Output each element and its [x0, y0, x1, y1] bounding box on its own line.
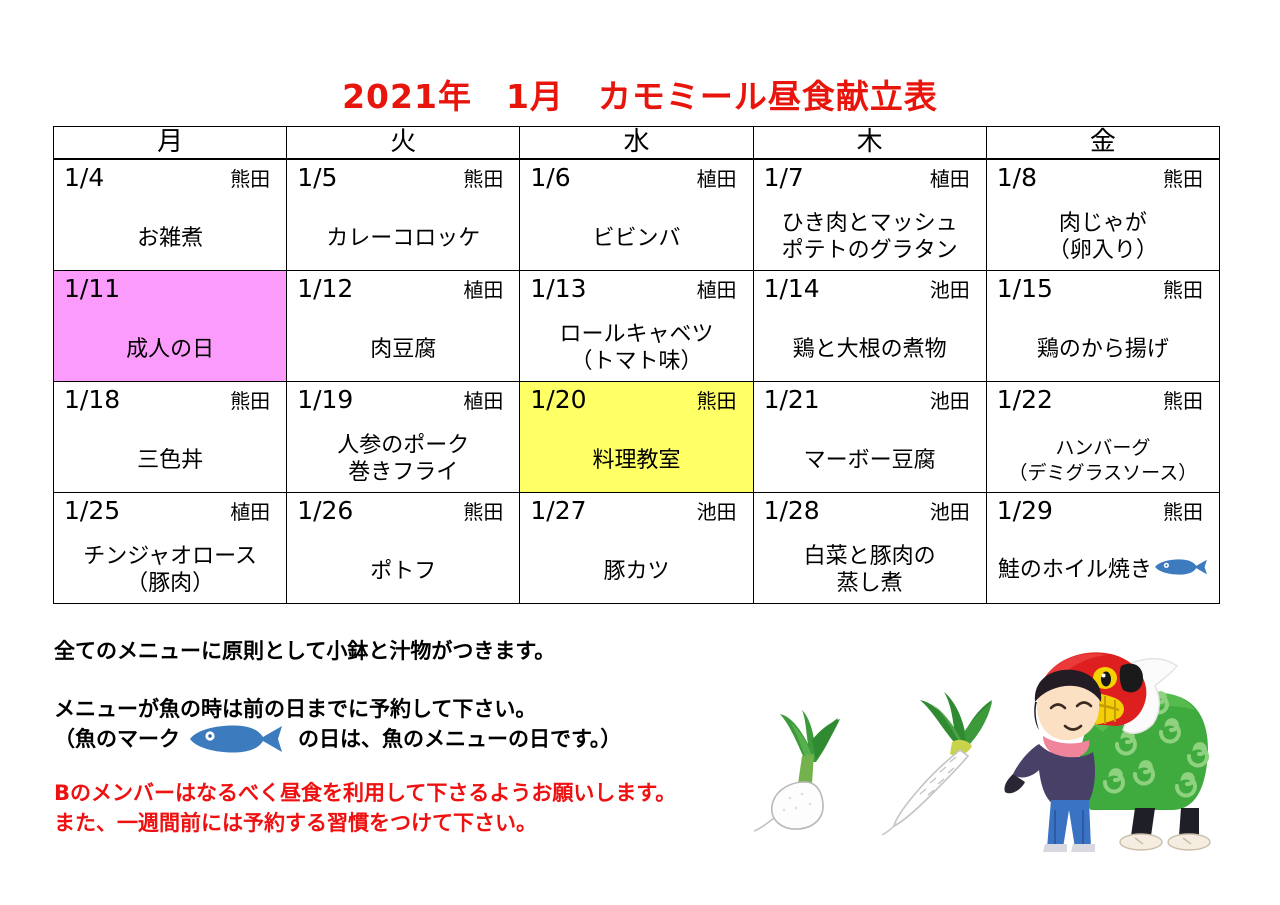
day-staff-name: 熊田: [230, 386, 276, 416]
day-staff-name: 植田: [463, 386, 509, 416]
calendar-day-cell[interactable]: 1/7植田ひき肉とマッシュポテトのグラタン: [753, 159, 986, 271]
day-staff-name: 植田: [697, 164, 743, 194]
note-line-fish-marker-explanation: （魚のマーク の日は、魚のメニューの日です。）: [54, 724, 694, 754]
day-cell-inner: 1/25植田チンジャオロース（豚肉）: [54, 493, 286, 603]
day-menu-text: 鶏のから揚げ: [987, 336, 1219, 363]
day-staff-name: 熊田: [1163, 164, 1209, 194]
day-menu-text: ひき肉とマッシュポテトのグラタン: [754, 210, 986, 264]
day-cell-inner: 1/21池田マーボー豆腐: [754, 382, 986, 492]
day-date: 1/6: [530, 163, 570, 193]
day-cell-inner: 1/18熊田三色丼: [54, 382, 286, 492]
calendar-day-cell[interactable]: 1/13植田ロールキャベツ（トマト味）: [520, 271, 753, 382]
calendar-day-cell[interactable]: 1/28池田白菜と豚肉の蒸し煮: [753, 493, 986, 604]
day-date: 1/5: [297, 163, 337, 193]
day-cell-inner: 1/4熊田お雑煮: [54, 160, 286, 270]
day-cell-inner: 1/7植田ひき肉とマッシュポテトのグラタン: [754, 160, 986, 270]
weekday-header-fri: 金: [986, 127, 1219, 160]
note-line-side-dishes: 全てのメニューに原則として小鉢と汁物がつきます。: [54, 636, 694, 666]
calendar-day-cell[interactable]: 1/11成人の日: [54, 271, 287, 382]
day-staff-name: 池田: [697, 497, 743, 527]
day-menu-text: マーボー豆腐: [754, 447, 986, 474]
day-cell-inner: 1/13植田ロールキャベツ（トマト味）: [520, 271, 752, 381]
day-menu-text: ハンバーグ（デミグラスソース）: [987, 436, 1219, 486]
day-date: 1/14: [764, 274, 820, 304]
day-cell-inner: 1/22熊田ハンバーグ（デミグラスソース）: [987, 382, 1219, 492]
calendar-day-cell[interactable]: 1/5熊田カレーコロッケ: [287, 159, 520, 271]
day-cell-inner: 1/14池田鶏と大根の煮物: [754, 271, 986, 381]
page-title: 2021年 1月 カモミール昼食献立表: [0, 70, 1280, 118]
calendar-week-row: 1/4熊田お雑煮1/5熊田カレーコロッケ1/6植田ビビンバ1/7植田ひき肉とマッ…: [54, 159, 1220, 271]
daikon-illustration: [880, 680, 1000, 844]
fish-icon: [1154, 556, 1208, 583]
day-cell-inner: 1/19植田人参のポーク巻きフライ: [287, 382, 519, 492]
day-menu-text: チンジャオロース（豚肉）: [54, 543, 286, 597]
day-cell-header: 1/19植田: [297, 385, 509, 415]
day-cell-header: 1/15熊田: [997, 274, 1209, 304]
day-cell-header: 1/29熊田: [997, 496, 1209, 526]
day-staff-name: 植田: [230, 497, 276, 527]
calendar-week-row: 1/11成人の日1/12植田肉豆腐1/13植田ロールキャベツ（トマト味）1/14…: [54, 271, 1220, 382]
day-cell-header: 1/22熊田: [997, 385, 1209, 415]
weekday-header-mon: 月: [54, 127, 287, 160]
day-cell-header: 1/12植田: [297, 274, 509, 304]
calendar-day-cell[interactable]: 1/6植田ビビンバ: [520, 159, 753, 271]
weekday-header-thu: 木: [753, 127, 986, 160]
day-staff-name: 植田: [697, 275, 743, 305]
day-menu-text: ポトフ: [287, 558, 519, 585]
day-menu-text: 豚カツ: [520, 558, 752, 585]
calendar-day-cell[interactable]: 1/14池田鶏と大根の煮物: [753, 271, 986, 382]
note-fish-prefix: （魚のマーク: [54, 724, 180, 754]
weekday-header-row: 月 火 水 木 金: [54, 127, 1220, 160]
day-date: 1/19: [297, 385, 353, 415]
day-cell-header: 1/26熊田: [297, 496, 509, 526]
notes-section: 全てのメニューに原則として小鉢と汁物がつきます。 メニューが魚の時は前の日までに…: [54, 636, 694, 838]
day-cell-header: 1/25植田: [64, 496, 276, 526]
day-date: 1/12: [297, 274, 353, 304]
day-cell-inner: 1/6植田ビビンバ: [520, 160, 752, 270]
day-date: 1/22: [997, 385, 1053, 415]
day-date: 1/7: [764, 163, 804, 193]
day-menu-text: 肉豆腐: [287, 336, 519, 363]
day-menu-text: 三色丼: [54, 447, 286, 474]
calendar-day-cell[interactable]: 1/22熊田ハンバーグ（デミグラスソース）: [986, 382, 1219, 493]
day-cell-header: 1/11: [64, 274, 276, 304]
day-staff-name: 池田: [930, 275, 976, 305]
day-cell-header: 1/8熊田: [997, 163, 1209, 193]
day-cell-inner: 1/20熊田料理教室: [520, 382, 752, 492]
day-cell-inner: 1/27池田豚カツ: [520, 493, 752, 603]
calendar-day-cell[interactable]: 1/12植田肉豆腐: [287, 271, 520, 382]
day-cell-header: 1/27池田: [530, 496, 742, 526]
day-date: 1/25: [64, 496, 120, 526]
day-staff-name: 植田: [463, 275, 509, 305]
day-date: 1/27: [530, 496, 586, 526]
calendar-day-cell[interactable]: 1/25植田チンジャオロース（豚肉）: [54, 493, 287, 604]
day-menu-text: 成人の日: [54, 336, 286, 363]
day-cell-header: 1/5熊田: [297, 163, 509, 193]
day-date: 1/4: [64, 163, 104, 193]
calendar-day-cell[interactable]: 1/19植田人参のポーク巻きフライ: [287, 382, 520, 493]
day-cell-inner: 1/15熊田鶏のから揚げ: [987, 271, 1219, 381]
day-cell-header: 1/28池田: [764, 496, 976, 526]
day-date: 1/13: [530, 274, 586, 304]
day-date: 1/26: [297, 496, 353, 526]
day-staff-name: 池田: [930, 497, 976, 527]
day-cell-header: 1/4熊田: [64, 163, 276, 193]
day-cell-inner: 1/26熊田ポトフ: [287, 493, 519, 603]
day-menu-text: カレーコロッケ: [287, 225, 519, 252]
note-line-b-member-request: Bのメンバーはなるべく昼食を利用して下さるようお願いします。: [54, 778, 694, 808]
day-date: 1/18: [64, 385, 120, 415]
day-staff-name: 植田: [930, 164, 976, 194]
day-cell-header: 1/14池田: [764, 274, 976, 304]
day-staff-name: 熊田: [230, 164, 276, 194]
day-menu-text: 鶏と大根の煮物: [754, 336, 986, 363]
day-menu-text: お雑煮: [54, 225, 286, 252]
day-menu-text: 鮭のホイル焼き: [987, 556, 1219, 585]
calendar-day-cell[interactable]: 1/21池田マーボー豆腐: [753, 382, 986, 493]
calendar-day-cell[interactable]: 1/4熊田お雑煮: [54, 159, 287, 271]
day-staff-name: 熊田: [463, 497, 509, 527]
day-cell-header: 1/21池田: [764, 385, 976, 415]
day-staff-name: 熊田: [697, 386, 743, 416]
day-menu-text: 料理教室: [520, 447, 752, 474]
day-staff-name: 熊田: [1163, 497, 1209, 527]
day-date: 1/21: [764, 385, 820, 415]
weekday-header-wed: 水: [520, 127, 753, 160]
day-date: 1/28: [764, 496, 820, 526]
calendar-day-cell[interactable]: 1/26熊田ポトフ: [287, 493, 520, 604]
shishimai-illustration: [985, 640, 1215, 859]
calendar-day-cell[interactable]: 1/20熊田料理教室: [520, 382, 753, 493]
day-menu-text: 人参のポーク巻きフライ: [287, 432, 519, 486]
day-date: 1/29: [997, 496, 1053, 526]
day-menu-text: 白菜と豚肉の蒸し煮: [754, 543, 986, 597]
calendar-day-cell[interactable]: 1/8熊田肉じゃが（卵入り）: [986, 159, 1219, 271]
day-cell-inner: 1/5熊田カレーコロッケ: [287, 160, 519, 270]
day-cell-header: 1/13植田: [530, 274, 742, 304]
day-cell-header: 1/6植田: [530, 163, 742, 193]
calendar-body: 1/4熊田お雑煮1/5熊田カレーコロッケ1/6植田ビビンバ1/7植田ひき肉とマッ…: [54, 159, 1220, 604]
day-date: 1/11: [64, 274, 120, 304]
day-menu-text: ロールキャベツ（トマト味）: [520, 321, 752, 375]
turnip-illustration: [750, 690, 860, 844]
day-date: 1/8: [997, 163, 1037, 193]
calendar-week-row: 1/25植田チンジャオロース（豚肉）1/26熊田ポトフ1/27池田豚カツ1/28…: [54, 493, 1220, 604]
calendar-day-cell[interactable]: 1/27池田豚カツ: [520, 493, 753, 604]
menu-calendar-table: 月 火 水 木 金 1/4熊田お雑煮1/5熊田カレーコロッケ1/6植田ビビンバ1…: [53, 126, 1220, 604]
day-cell-inner: 1/28池田白菜と豚肉の蒸し煮: [754, 493, 986, 603]
note-line-fish-reservation: メニューが魚の時は前の日までに予約して下さい。: [54, 694, 694, 724]
fish-icon: [188, 724, 284, 754]
calendar-day-cell[interactable]: 1/29熊田鮭のホイル焼き: [986, 493, 1219, 604]
day-cell-inner: 1/8熊田肉じゃが（卵入り）: [987, 160, 1219, 270]
day-menu-text: 肉じゃが（卵入り）: [987, 210, 1219, 264]
calendar-week-row: 1/18熊田三色丼1/19植田人参のポーク巻きフライ1/20熊田料理教室1/21…: [54, 382, 1220, 493]
calendar-day-cell[interactable]: 1/15熊田鶏のから揚げ: [986, 271, 1219, 382]
day-cell-inner: 1/11成人の日: [54, 271, 286, 381]
calendar-day-cell[interactable]: 1/18熊田三色丼: [54, 382, 287, 493]
day-date: 1/20: [530, 385, 586, 415]
day-cell-header: 1/18熊田: [64, 385, 276, 415]
day-menu-text: ビビンバ: [520, 225, 752, 252]
day-cell-header: 1/20熊田: [530, 385, 742, 415]
day-cell-header: 1/7植田: [764, 163, 976, 193]
day-date: 1/15: [997, 274, 1053, 304]
day-staff-name: 熊田: [463, 164, 509, 194]
note-fish-suffix: の日は、魚のメニューの日です。）: [298, 724, 621, 754]
day-staff-name: 池田: [930, 386, 976, 416]
day-cell-inner: 1/29熊田鮭のホイル焼き: [987, 493, 1219, 603]
day-cell-inner: 1/12植田肉豆腐: [287, 271, 519, 381]
day-staff-name: 熊田: [1163, 275, 1209, 305]
day-staff-name: 熊田: [1163, 386, 1209, 416]
note-line-advance-reservation: また、一週間前には予約する習慣をつけて下さい。: [54, 808, 694, 838]
weekday-header-tue: 火: [287, 127, 520, 160]
